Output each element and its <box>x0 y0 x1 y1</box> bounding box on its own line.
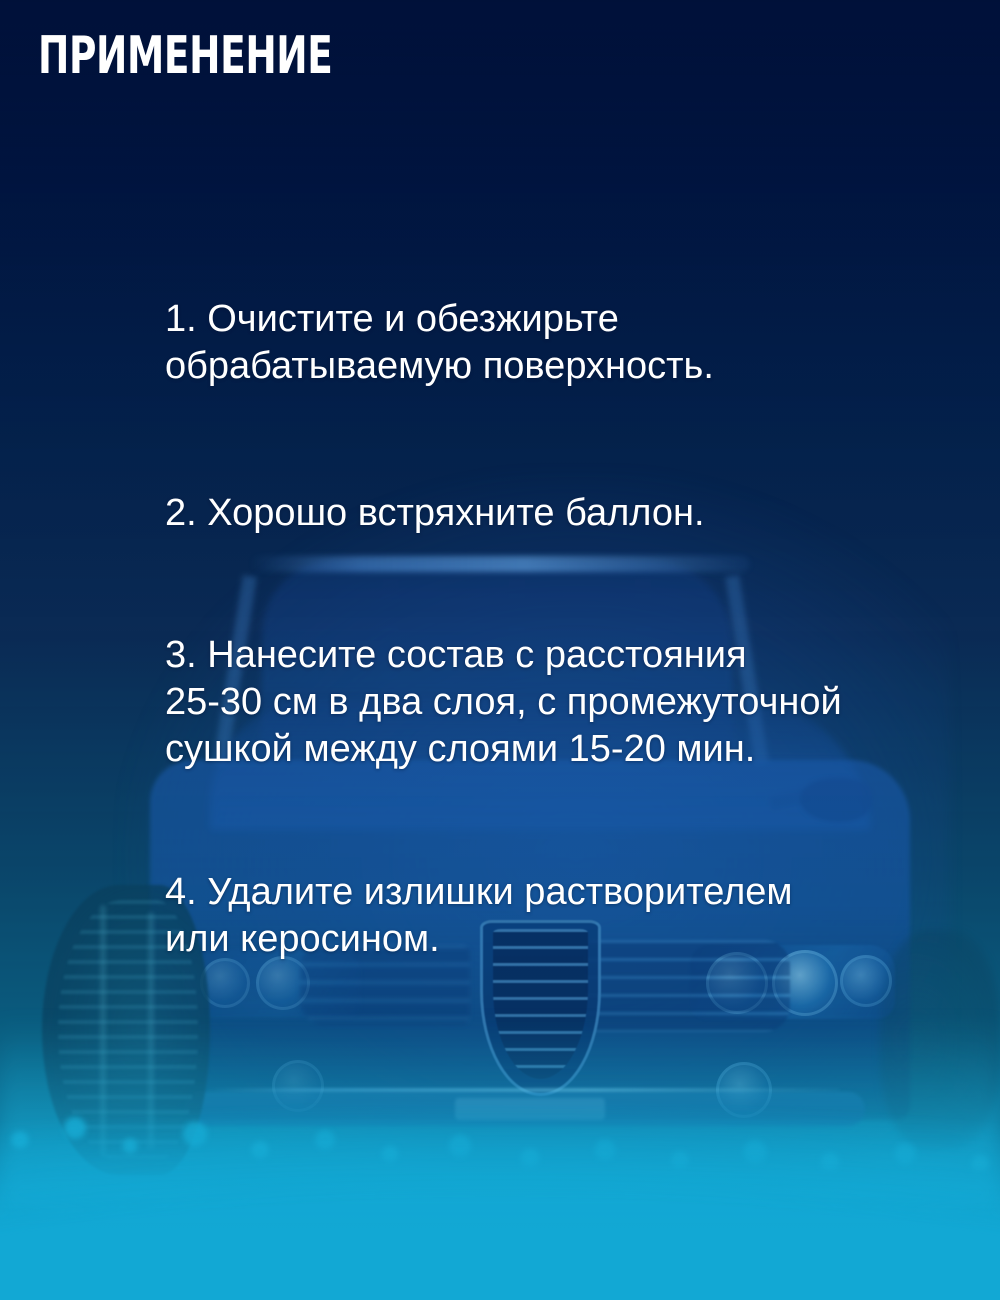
instruction-step-3: 3. Нанесите состав с расстояния 25-30 см… <box>165 632 945 773</box>
instruction-step-2: 2. Хорошо встряхните баллон. <box>165 490 945 537</box>
instruction-step-1: 1. Очистите и обезжирьте обрабатываемую … <box>165 296 945 390</box>
step-spacer-1 <box>165 390 945 490</box>
page-title: ПРИМЕНЕНИЕ <box>38 30 333 82</box>
step-spacer-3 <box>165 773 945 869</box>
slide-content: ПРИМЕНЕНИЕ 1. Очистите и обезжирьте обра… <box>0 0 1000 1300</box>
step-spacer-2 <box>165 537 945 632</box>
instruction-step-4: 4. Удалите излишки растворителем или кер… <box>165 869 945 963</box>
instruction-list: 1. Очистите и обезжирьте обрабатываемую … <box>165 296 945 963</box>
promo-slide: ПРИМЕНЕНИЕ 1. Очистите и обезжирьте обра… <box>0 0 1000 1300</box>
